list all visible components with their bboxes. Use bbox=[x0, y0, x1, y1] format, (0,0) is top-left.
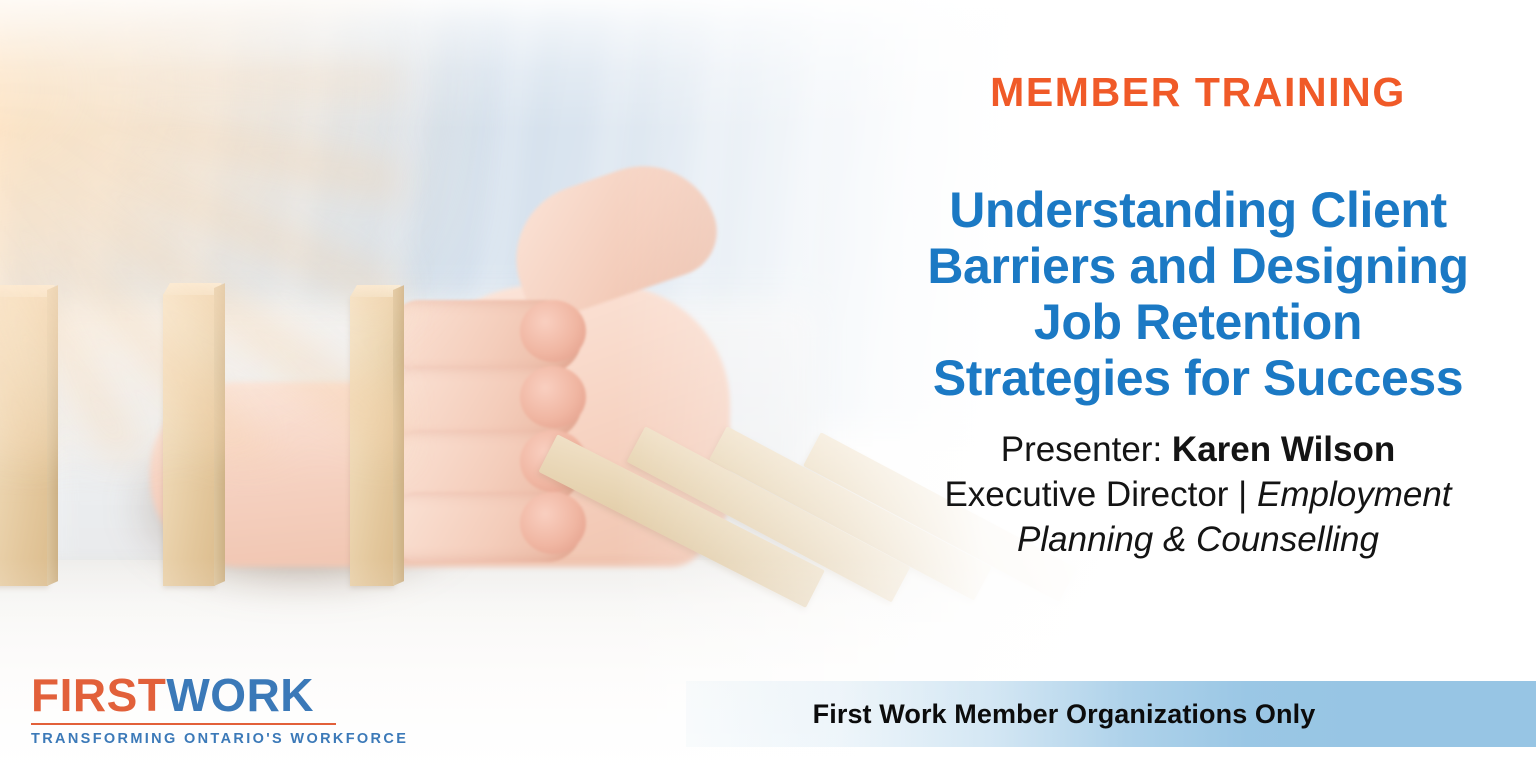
eligibility-banner-text: First Work Member Organizations Only bbox=[686, 699, 1536, 730]
presenter-organization-cont: Planning & Counselling bbox=[1017, 520, 1379, 559]
eyebrow-label: MEMBER TRAINING bbox=[880, 72, 1516, 113]
first-work-logo: FIRSTWORK TRANSFORMING ONTARIO'S WORKFOR… bbox=[31, 672, 336, 747]
presenter-label: Presenter: bbox=[1001, 430, 1162, 469]
logo-divider-rule bbox=[31, 723, 336, 725]
logo-word-work: WORK bbox=[166, 669, 314, 721]
logo-wordmark: FIRSTWORK bbox=[31, 672, 336, 718]
presenter-organization-line-2: Planning & Counselling bbox=[880, 518, 1516, 563]
headline-line-2: Barriers and Designing bbox=[880, 238, 1516, 294]
presenter-separator: | bbox=[1238, 475, 1247, 514]
presenter-name-line: Presenter: Karen Wilson bbox=[880, 428, 1516, 473]
presenter-organization: Employment bbox=[1257, 475, 1452, 514]
eligibility-banner: First Work Member Organizations Only bbox=[686, 681, 1536, 747]
headline-line-3: Job Retention bbox=[880, 294, 1516, 350]
text-column: MEMBER TRAINING Understanding Client Bar… bbox=[880, 0, 1516, 640]
headline-line-4: Strategies for Success bbox=[880, 350, 1516, 406]
logo-tagline: TRANSFORMING ONTARIO'S WORKFORCE bbox=[31, 731, 336, 747]
headline-line-1: Understanding Client bbox=[880, 182, 1516, 238]
presenter-name: Karen Wilson bbox=[1172, 430, 1395, 469]
logo-word-first: FIRST bbox=[31, 669, 166, 721]
presenter-block: Presenter: Karen Wilson Executive Direct… bbox=[880, 428, 1516, 562]
presenter-role: Executive Director bbox=[944, 475, 1228, 514]
page-title: Understanding Client Barriers and Design… bbox=[880, 182, 1516, 406]
presenter-role-line: Executive Director | Employment bbox=[880, 473, 1516, 518]
promo-poster: MEMBER TRAINING Understanding Client Bar… bbox=[0, 0, 1536, 768]
